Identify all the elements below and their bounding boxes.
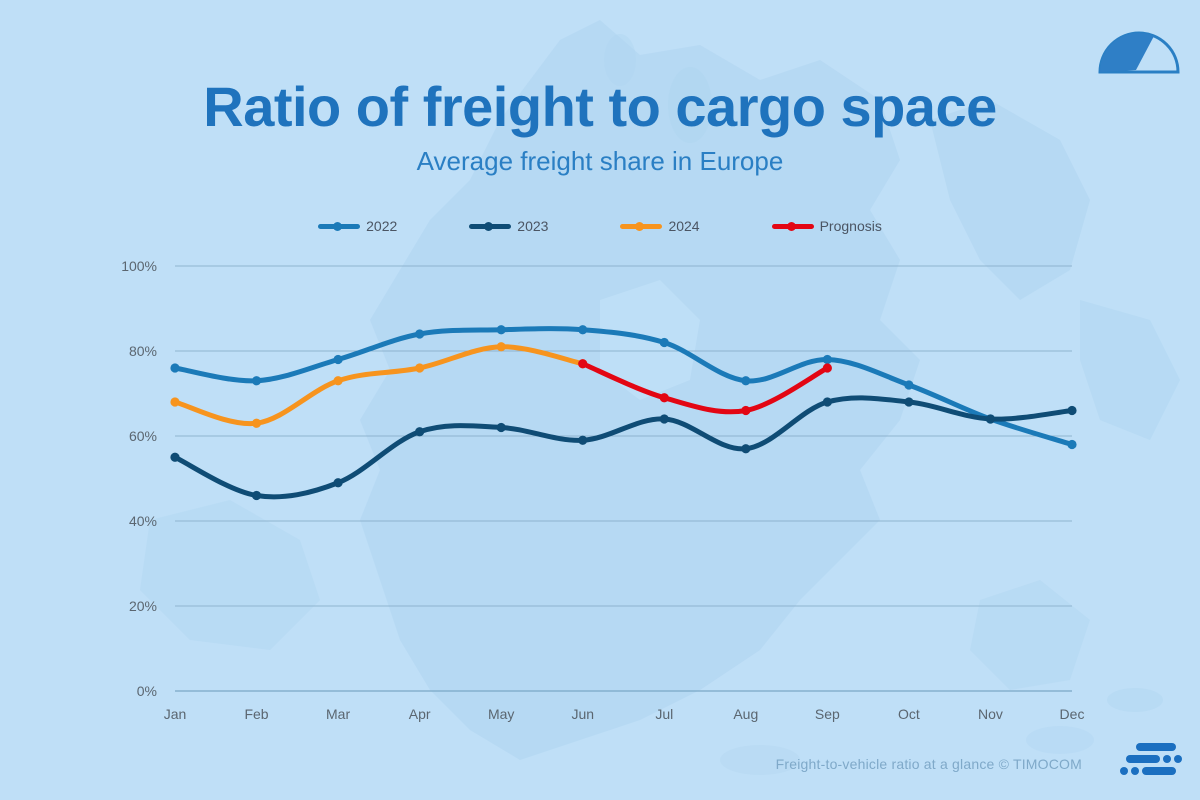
data-point-2023[interactable]: [660, 414, 669, 423]
data-point-2023[interactable]: [415, 427, 424, 436]
data-point-2023[interactable]: [823, 397, 832, 406]
series-line-2023: [175, 398, 1072, 497]
y-axis-tick-label: 60%: [129, 428, 157, 444]
y-axis-tick-label: 80%: [129, 343, 157, 359]
x-axis-tick-label: May: [488, 706, 514, 722]
x-axis-tick-label: Nov: [978, 706, 1003, 722]
x-axis-tick-label: Mar: [326, 706, 350, 722]
data-point-2022[interactable]: [252, 376, 261, 385]
data-point-2023[interactable]: [904, 397, 913, 406]
line-chart-plot: 0%20%40%60%80%100%JanFebMarAprMayJunJulA…: [0, 0, 1200, 800]
x-axis-tick-label: Feb: [244, 706, 268, 722]
data-point-2023[interactable]: [252, 491, 261, 500]
data-point-2022[interactable]: [741, 376, 750, 385]
data-point-2022[interactable]: [333, 355, 342, 364]
data-point-2023[interactable]: [333, 478, 342, 487]
data-point-2023[interactable]: [170, 453, 179, 462]
data-point-2022[interactable]: [904, 380, 913, 389]
data-point-prognosis[interactable]: [741, 406, 750, 415]
data-point-2024[interactable]: [333, 376, 342, 385]
y-axis-tick-label: 20%: [129, 598, 157, 614]
data-point-2022[interactable]: [823, 355, 832, 364]
data-point-2022[interactable]: [1067, 440, 1076, 449]
data-point-2024[interactable]: [170, 397, 179, 406]
footer-note: Freight-to-vehicle ratio at a glance © T…: [776, 756, 1082, 772]
data-point-2022[interactable]: [660, 338, 669, 347]
x-axis-tick-label: Sep: [815, 706, 840, 722]
x-axis-tick-label: Aug: [733, 706, 758, 722]
series-line-2024: [175, 347, 583, 424]
y-axis-tick-label: 100%: [121, 258, 157, 274]
data-point-prognosis[interactable]: [578, 359, 587, 368]
data-point-prognosis[interactable]: [823, 363, 832, 372]
data-point-2023[interactable]: [497, 423, 506, 432]
data-point-2024[interactable]: [252, 419, 261, 428]
x-axis-tick-label: Dec: [1060, 706, 1085, 722]
data-point-2022[interactable]: [578, 325, 587, 334]
data-point-2024[interactable]: [415, 363, 424, 372]
x-axis-tick-label: Jan: [164, 706, 187, 722]
y-axis-tick-label: 40%: [129, 513, 157, 529]
infographic-canvas: Ratio of freight to cargo space Average …: [0, 0, 1200, 800]
data-point-2023[interactable]: [578, 436, 587, 445]
x-axis-tick-label: Oct: [898, 706, 920, 722]
data-point-2022[interactable]: [415, 329, 424, 338]
data-point-2024[interactable]: [497, 342, 506, 351]
y-axis-tick-label: 0%: [137, 683, 157, 699]
data-point-2023[interactable]: [986, 414, 995, 423]
data-point-prognosis[interactable]: [660, 393, 669, 402]
data-point-2022[interactable]: [497, 325, 506, 334]
data-point-2023[interactable]: [1067, 406, 1076, 415]
data-point-2022[interactable]: [170, 363, 179, 372]
x-axis-tick-label: Jun: [571, 706, 594, 722]
x-axis-tick-label: Jul: [655, 706, 673, 722]
x-axis-tick-label: Apr: [409, 706, 431, 722]
data-point-2023[interactable]: [741, 444, 750, 453]
